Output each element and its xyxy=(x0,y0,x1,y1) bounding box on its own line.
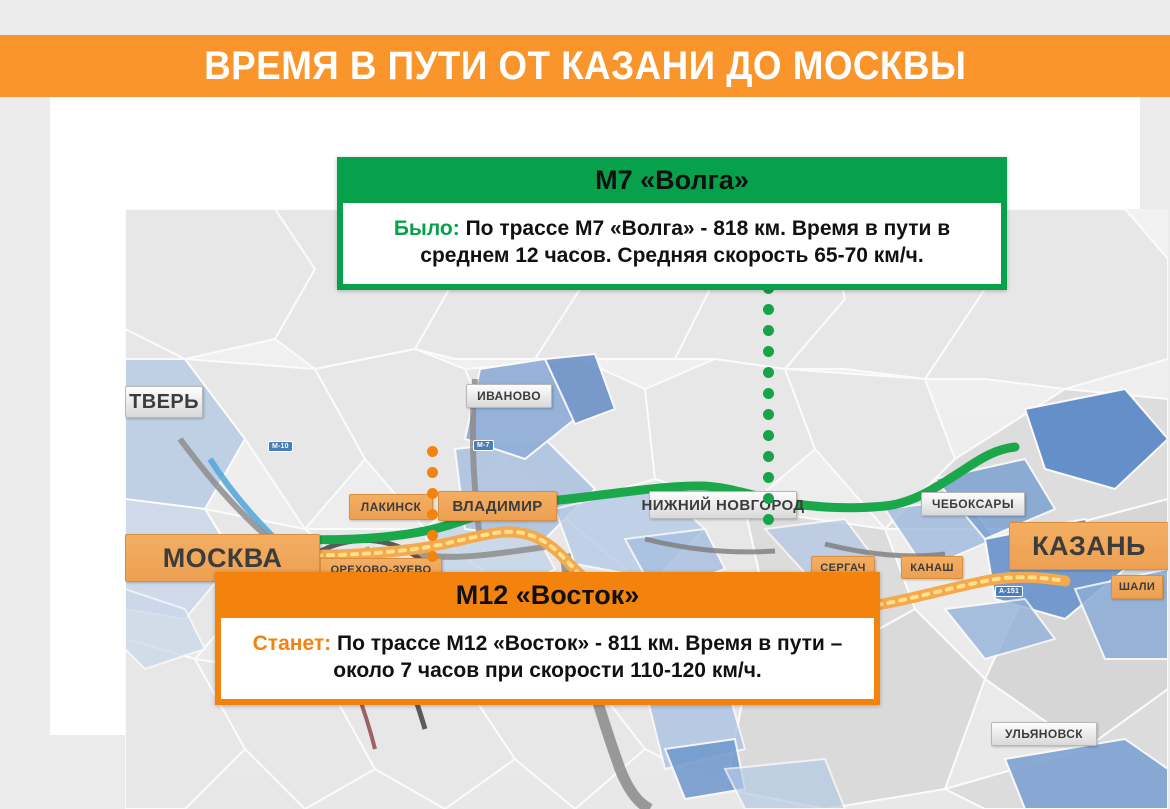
infobox-m7-text: По трассе М7 «Волга» - 818 км. Время в п… xyxy=(420,217,950,267)
highway-shield-a151: A-151 xyxy=(995,586,1023,597)
highway-shield-m7: M-7 xyxy=(473,440,494,451)
city-label-kanash[interactable]: КАНАШ xyxy=(901,556,963,579)
infobox-m12-title: M12 «Восток» xyxy=(221,572,874,618)
map-canvas[interactable]: M-10 M-7 A-151 ТВЕРЬ МОСКВА ИВАНОВО ЛАКИ… xyxy=(125,209,1168,809)
city-label-lakinsk[interactable]: ЛАКИНСК xyxy=(349,494,433,520)
city-label-vladimir[interactable]: ВЛАДИМИР xyxy=(438,491,557,521)
infobox-m7: M7 «Волга» Было: По трассе М7 «Волга» - … xyxy=(337,157,1007,290)
header-bar: ВРЕМЯ В ПУТИ ОТ КАЗАНИ ДО МОСКВЫ xyxy=(0,35,1170,97)
city-label-ivanovo[interactable]: ИВАНОВО xyxy=(466,384,552,408)
city-label-tver[interactable]: ТВЕРЬ xyxy=(125,386,203,418)
m7-connector-dots xyxy=(763,283,774,535)
infobox-m7-title: M7 «Волга» xyxy=(343,157,1001,203)
infobox-m12-body: Станет: По трассе М12 «Восток» - 811 км.… xyxy=(221,618,874,699)
page-title: ВРЕМЯ В ПУТИ ОТ КАЗАНИ ДО МОСКВЫ xyxy=(204,46,966,86)
city-label-cheboksary[interactable]: ЧЕБОКСАРЫ xyxy=(921,492,1025,516)
highway-shield-m10: M-10 xyxy=(268,441,293,452)
city-label-nizhniy-novgorod[interactable]: НИЖНИЙ НОВГОРОД xyxy=(649,491,797,519)
infobox-m7-lead: Было: xyxy=(394,217,460,240)
city-label-kazan[interactable]: КАЗАНЬ xyxy=(1009,522,1168,570)
infobox-m7-body: Было: По трассе М7 «Волга» - 818 км. Вре… xyxy=(343,203,1001,284)
infobox-m12-lead: Станет: xyxy=(253,632,332,655)
city-label-ulyanovsk[interactable]: УЛЬЯНОВСК xyxy=(991,722,1097,746)
infobox-m12: M12 «Восток» Станет: По трассе М12 «Вост… xyxy=(215,572,880,705)
city-label-shali[interactable]: ШАЛИ xyxy=(1111,575,1163,599)
infobox-m12-text: По трассе М12 «Восток» - 811 км. Время в… xyxy=(331,632,842,682)
